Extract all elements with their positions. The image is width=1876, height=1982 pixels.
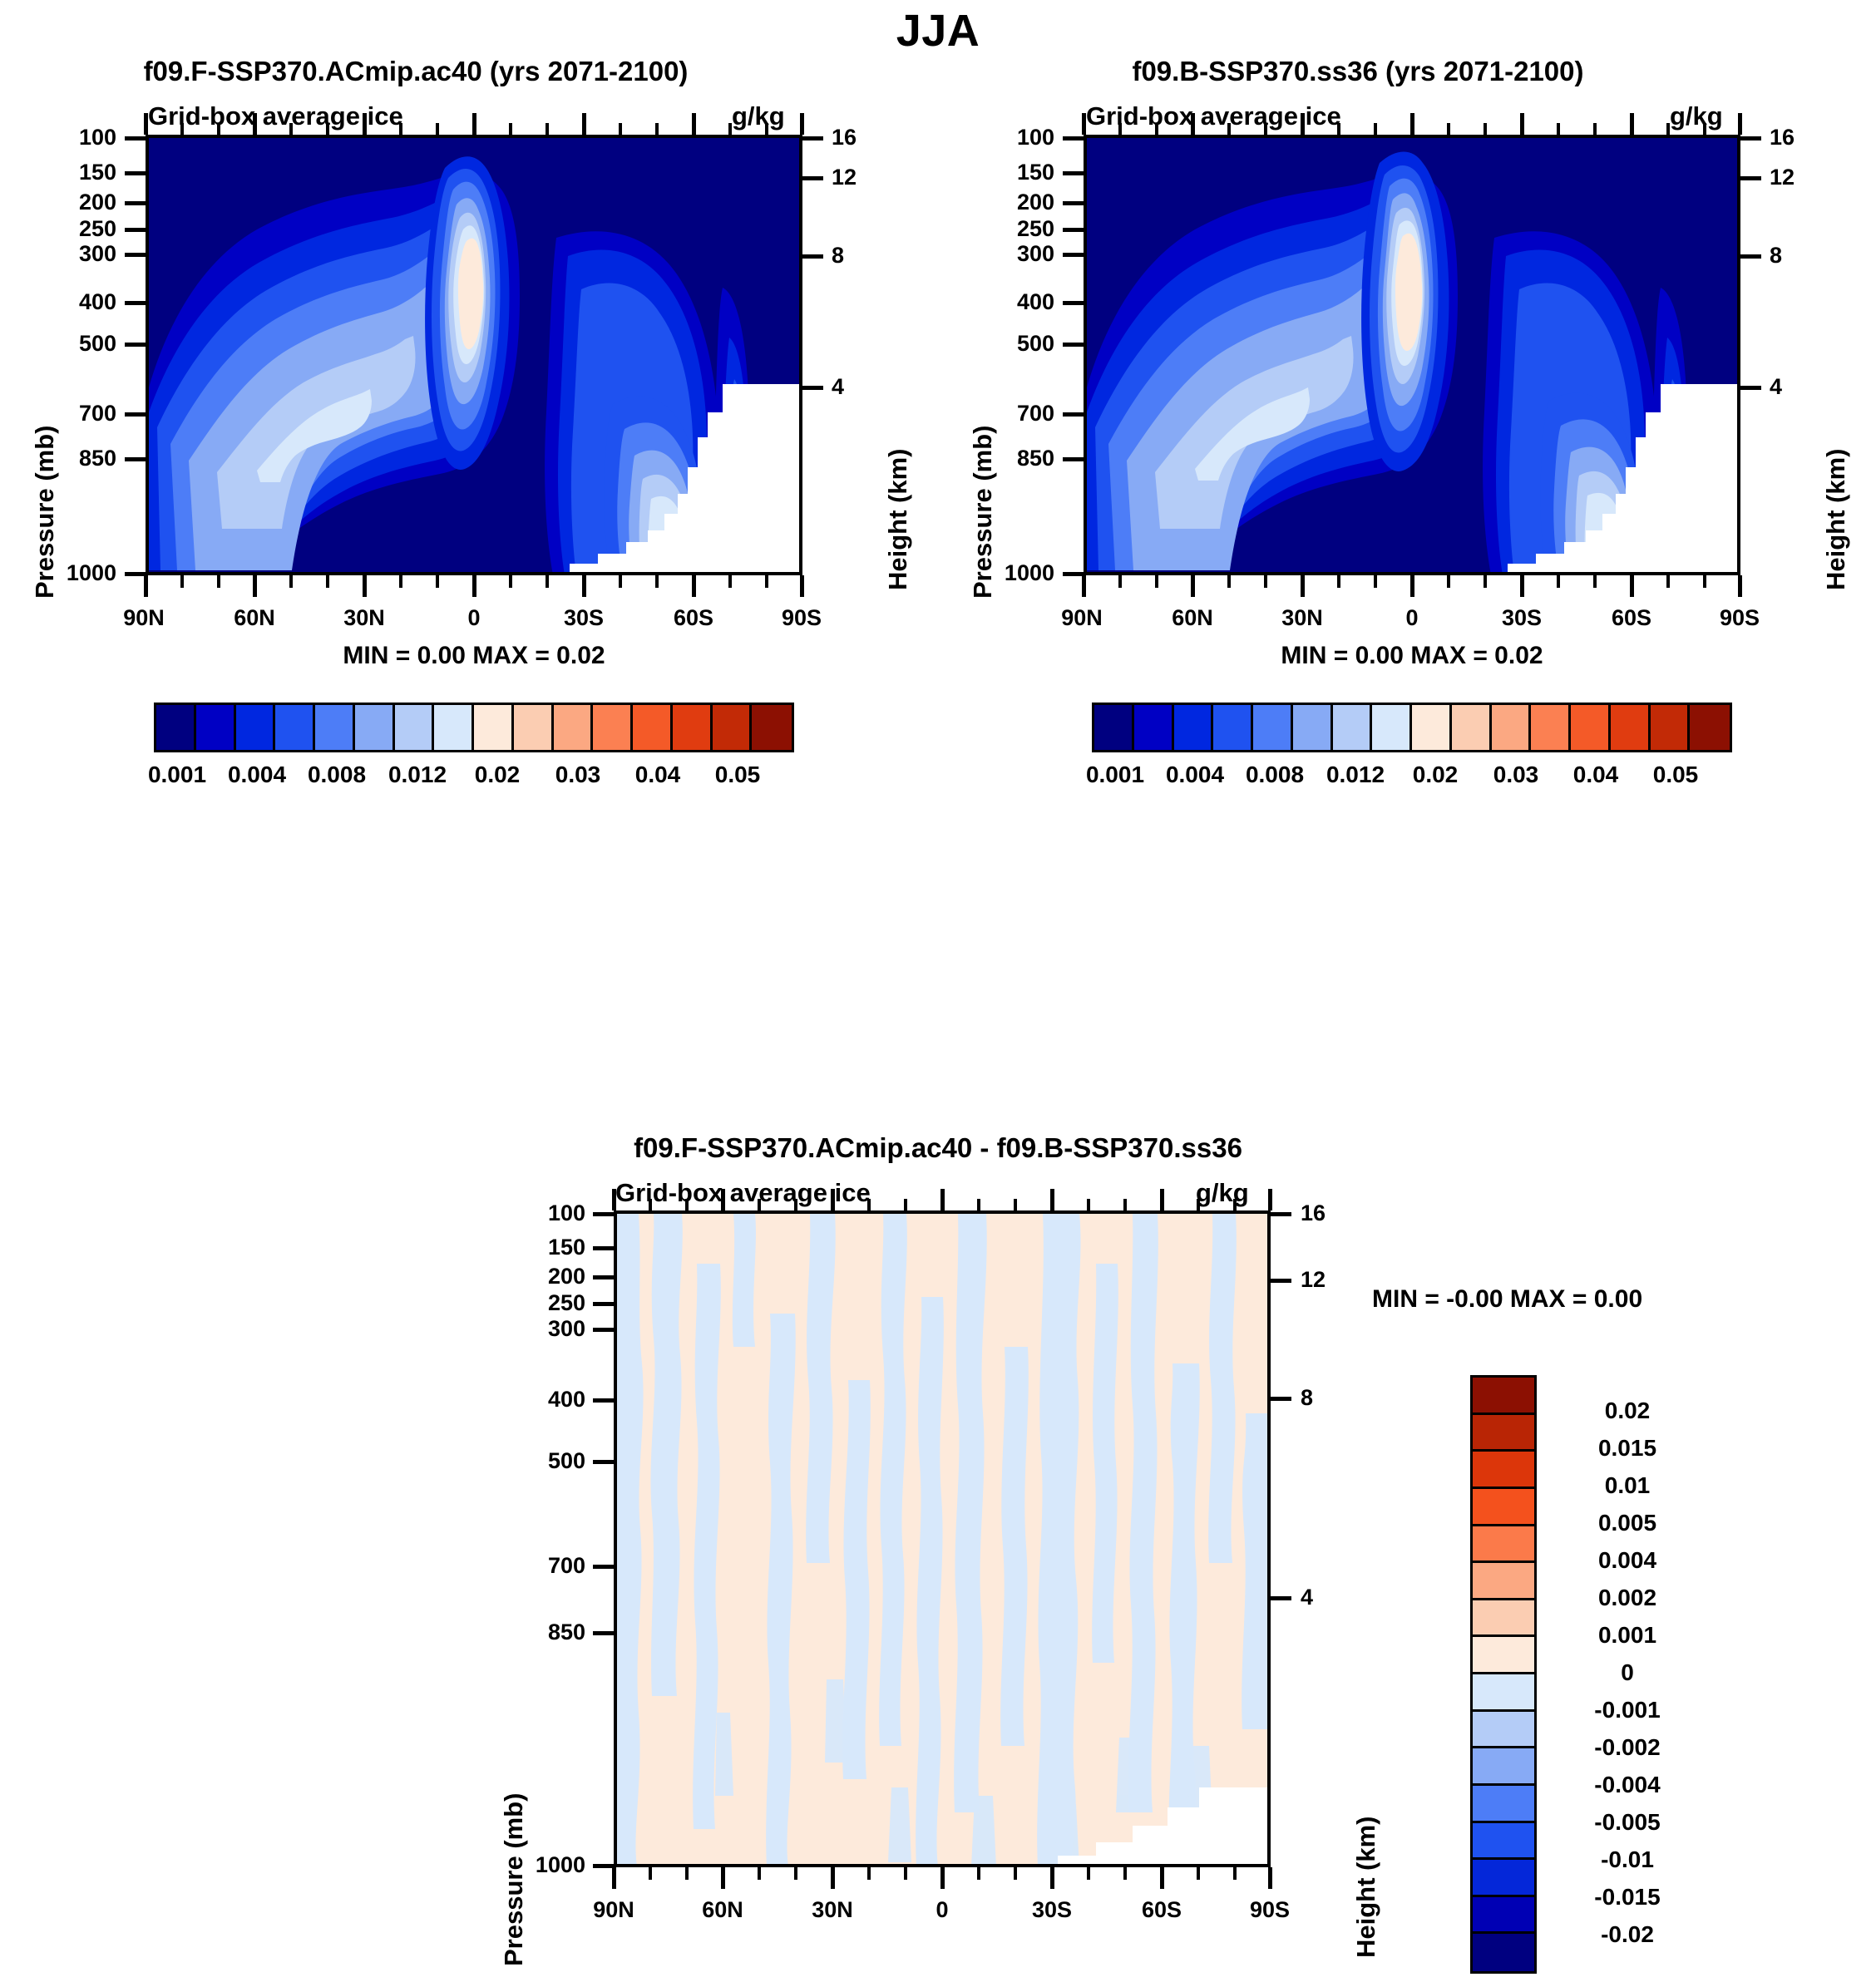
- tick-mark: [125, 228, 146, 232]
- height-tick-label: 16: [832, 125, 857, 150]
- pressure-tick-label: 850: [514, 1620, 585, 1645]
- pressure-tick-label: 150: [50, 160, 116, 185]
- colorbar-swatch: [156, 705, 196, 750]
- panel-a-plot-area: [146, 135, 802, 575]
- height-tick-label: 8: [1301, 1385, 1313, 1411]
- colorbar-swatch: [1473, 1823, 1534, 1861]
- pressure-tick-label: 200: [50, 190, 116, 215]
- pressure-tick-label: 500: [988, 331, 1054, 357]
- colorbar-swatch: [1473, 1786, 1534, 1823]
- colorbar-tick-label: 0.05: [681, 762, 794, 788]
- height-tick-label: 12: [1770, 165, 1795, 190]
- colorbar-tick-label: -0.002: [1548, 1734, 1706, 1761]
- panel-b-y2label: Height (km): [1821, 449, 1851, 591]
- colorbar-swatch: [1473, 1489, 1534, 1526]
- pressure-tick-label: 250: [988, 216, 1054, 242]
- colorbar-swatch: [1452, 705, 1492, 750]
- height-tick-label: 12: [832, 165, 857, 190]
- colorbar-swatch: [593, 705, 633, 750]
- colorbar-swatch: [236, 705, 276, 750]
- lat-tick-label: 0: [892, 1897, 992, 1923]
- colorbar-swatch: [1473, 1897, 1534, 1935]
- height-tick-label: 8: [832, 243, 844, 269]
- pressure-tick-label: 500: [514, 1448, 585, 1474]
- lat-tick-label: 60S: [1582, 605, 1681, 631]
- pressure-tick-label: 500: [50, 331, 116, 357]
- lat-tick-label: 90S: [1690, 605, 1790, 631]
- height-tick-label: 4: [1770, 374, 1782, 400]
- colorbar-swatch: [1372, 705, 1412, 750]
- pressure-tick-label: 400: [514, 1387, 585, 1413]
- colorbar-swatch: [514, 705, 554, 750]
- colorbar-swatch: [1473, 1600, 1534, 1638]
- height-tick-label: 4: [832, 374, 844, 400]
- colorbar-tick-label: -0.01: [1548, 1846, 1706, 1873]
- colorbar-tick-label: 0: [1548, 1659, 1706, 1686]
- colorbar-swatch: [275, 705, 315, 750]
- colorbar-swatch: [1473, 1415, 1534, 1452]
- tick-mark: [125, 253, 146, 257]
- pressure-tick-label: 700: [988, 401, 1054, 426]
- panel-diff-units: g/kg: [1196, 1178, 1249, 1208]
- lat-tick-label: 90S: [1220, 1897, 1320, 1923]
- colorbar-tick-label: 0.01: [1548, 1472, 1706, 1499]
- colorbar-swatch: [1253, 705, 1293, 750]
- colorbar-swatch: [1473, 1526, 1534, 1564]
- tick-mark: [125, 412, 146, 417]
- pressure-tick-label: 700: [514, 1553, 585, 1579]
- colorbar-swatch: [315, 705, 355, 750]
- panel-b-plot-area: [1084, 135, 1740, 575]
- height-tick-label: 12: [1301, 1267, 1326, 1293]
- colorbar-swatch: [1213, 705, 1253, 750]
- pressure-tick-label: 400: [50, 289, 116, 315]
- colorbar-swatch: [1473, 1674, 1534, 1712]
- panel-a-colorbar-labels: 0.001 0.004 0.008 0.012 0.02 0.03 0.04 0…: [154, 762, 794, 795]
- height-tick-label: 4: [1301, 1585, 1313, 1610]
- tick-mark: [472, 575, 476, 597]
- colorbar-swatch: [1531, 705, 1571, 750]
- colorbar-tick-label: -0.02: [1548, 1921, 1706, 1948]
- lat-tick-label: 60N: [1143, 605, 1242, 631]
- lat-tick-label: 60S: [644, 605, 743, 631]
- colorbar-swatch: [1690, 705, 1730, 750]
- tick-mark: [125, 457, 146, 461]
- panel-diff-plot-area: [614, 1210, 1271, 1867]
- tick-mark: [125, 171, 146, 175]
- colorbar-tick-label: 0.002: [1548, 1585, 1706, 1611]
- pressure-tick-label: 850: [988, 446, 1054, 471]
- main-title: JJA: [0, 5, 1876, 57]
- colorbar-swatch: [1492, 705, 1532, 750]
- panel-b-title: f09.B-SSP370.ss36 (yrs 2071-2100): [938, 56, 1778, 87]
- pressure-tick-label: 1000: [38, 560, 116, 586]
- colorbar-swatch: [1473, 1748, 1534, 1786]
- lat-tick-label: 60N: [673, 1897, 773, 1923]
- colorbar-swatch: [395, 705, 435, 750]
- colorbar-swatch: [1333, 705, 1373, 750]
- lat-tick-label: 90N: [564, 1897, 664, 1923]
- tick-mark: [582, 575, 586, 597]
- pressure-tick-label: 200: [514, 1264, 585, 1289]
- colorbar-swatch: [1174, 705, 1214, 750]
- pressure-tick-label: 300: [988, 241, 1054, 267]
- panel-diff-colorbar-labels: 0.02 0.015 0.01 0.005 0.004 0.002 0.001 …: [1548, 1375, 1723, 1974]
- panel-b-units: g/kg: [1670, 101, 1723, 131]
- colorbar-swatch: [196, 705, 236, 750]
- pressure-tick-label: 300: [50, 241, 116, 267]
- colorbar-tick-label: 0.005: [1548, 1510, 1706, 1536]
- pressure-tick-label: 300: [514, 1316, 585, 1342]
- pressure-tick-label: 700: [50, 401, 116, 426]
- lat-tick-label: 90S: [752, 605, 852, 631]
- tick-mark: [253, 575, 257, 597]
- colorbar-swatch: [1412, 705, 1452, 750]
- colorbar-tick-label: 0.02: [1548, 1398, 1706, 1424]
- panel-diff: f09.F-SSP370.ACmip.ac40 - f09.B-SSP370.s…: [0, 1131, 1876, 1982]
- colorbar-swatch: [1611, 705, 1651, 750]
- pressure-tick-label: 250: [514, 1290, 585, 1316]
- pressure-tick-label: 1000: [976, 560, 1054, 586]
- panel-b-colorbar-labels: 0.001 0.004 0.008 0.012 0.02 0.03 0.04 0…: [1092, 762, 1732, 795]
- pressure-tick-label: 200: [988, 190, 1054, 215]
- panel-diff-colorbar: [1470, 1375, 1537, 1974]
- lat-tick-label: 0: [424, 605, 524, 631]
- panel-a: f09.F-SSP370.ACmip.ac40 (yrs 2071-2100) …: [0, 50, 938, 1139]
- tick-mark: [125, 343, 146, 347]
- lat-tick-label: 60N: [205, 605, 304, 631]
- panel-diff-y2label: Height (km): [1351, 1817, 1381, 1959]
- tick-mark: [802, 386, 823, 390]
- panel-b-contour-field: [1087, 138, 1740, 575]
- tick-mark: [800, 575, 804, 597]
- panel-a-y2label: Height (km): [883, 449, 913, 591]
- colorbar-tick-label: 0.001: [1548, 1622, 1706, 1649]
- colorbar-swatch: [1134, 705, 1174, 750]
- tick-mark: [144, 575, 148, 597]
- colorbar-swatch: [1473, 1378, 1534, 1415]
- pressure-tick-label: 150: [514, 1235, 585, 1260]
- lat-tick-label: 90N: [94, 605, 194, 631]
- pressure-tick-label: 150: [988, 160, 1054, 185]
- colorbar-swatch: [1571, 705, 1611, 750]
- colorbar-swatch: [355, 705, 395, 750]
- pressure-tick-label: 400: [988, 289, 1054, 315]
- lat-tick-label: 90N: [1032, 605, 1132, 631]
- panel-a-colorbar: [154, 703, 794, 752]
- lat-tick-label: 30N: [782, 1897, 882, 1923]
- tick-mark: [125, 572, 146, 576]
- colorbar-swatch: [1473, 1563, 1534, 1600]
- colorbar-swatch: [434, 705, 474, 750]
- panel-b: f09.B-SSP370.ss36 (yrs 2071-2100) Grid-b…: [938, 50, 1876, 1139]
- colorbar-swatch: [1473, 1712, 1534, 1749]
- colorbar-swatch: [474, 705, 514, 750]
- colorbar-swatch: [1473, 1452, 1534, 1489]
- colorbar-tick-label: -0.005: [1548, 1809, 1706, 1836]
- panel-diff-ylabel: Pressure (mb): [499, 1793, 529, 1966]
- colorbar-tick-label: -0.001: [1548, 1697, 1706, 1723]
- colorbar-swatch: [673, 705, 713, 750]
- panel-b-colorbar: [1092, 703, 1732, 752]
- tick-mark: [802, 176, 823, 180]
- colorbar-swatch: [554, 705, 594, 750]
- pressure-tick-label: 850: [50, 446, 116, 471]
- lat-tick-label: 30S: [1002, 1897, 1102, 1923]
- pressure-tick-label: 100: [514, 1201, 585, 1226]
- panel-a-title: f09.F-SSP370.ACmip.ac40 (yrs 2071-2100): [0, 56, 832, 87]
- colorbar-tick-label: -0.004: [1548, 1772, 1706, 1798]
- tick-mark: [802, 136, 823, 141]
- colorbar-tick-label: 0.004: [1548, 1547, 1706, 1574]
- tick-mark: [802, 254, 823, 259]
- panel-diff-title: f09.F-SSP370.ACmip.ac40 - f09.B-SSP370.s…: [0, 1132, 1876, 1164]
- tick-mark: [125, 301, 146, 305]
- panel-diff-minmax: MIN = -0.00 MAX = 0.00: [1372, 1285, 1642, 1314]
- panel-a-minmax: MIN = 0.00 MAX = 0.02: [146, 642, 802, 670]
- lat-tick-label: 60S: [1112, 1897, 1212, 1923]
- lat-tick-label: 30N: [1252, 605, 1352, 631]
- height-tick-label: 8: [1770, 243, 1782, 269]
- tick-mark: [692, 575, 696, 597]
- colorbar-tick-label: 0.015: [1548, 1435, 1706, 1462]
- pressure-tick-label: 250: [50, 216, 116, 242]
- pressure-tick-label: 100: [50, 125, 116, 150]
- panel-b-minmax: MIN = 0.00 MAX = 0.02: [1084, 642, 1740, 670]
- colorbar-swatch: [752, 705, 792, 750]
- height-tick-label: 16: [1301, 1201, 1326, 1226]
- colorbar-swatch: [1473, 1934, 1534, 1971]
- colorbar-swatch: [633, 705, 673, 750]
- lat-tick-label: 30N: [314, 605, 414, 631]
- panel-a-contour-field: [149, 138, 802, 575]
- colorbar-swatch: [713, 705, 753, 750]
- colorbar-swatch: [1293, 705, 1333, 750]
- colorbar-tick-label: 0.05: [1619, 762, 1732, 788]
- colorbar-swatch: [1651, 705, 1691, 750]
- tick-mark: [125, 201, 146, 205]
- pressure-tick-label: 1000: [501, 1852, 585, 1878]
- pressure-tick-label: 100: [988, 125, 1054, 150]
- colorbar-tick-label: -0.015: [1548, 1884, 1706, 1911]
- lat-tick-label: 0: [1362, 605, 1462, 631]
- colorbar-swatch: [1094, 705, 1134, 750]
- panel-diff-contour-field: [617, 1214, 1271, 1867]
- lat-tick-label: 30S: [534, 605, 634, 631]
- colorbar-swatch: [1473, 1860, 1534, 1897]
- lat-tick-label: 30S: [1472, 605, 1572, 631]
- tick-mark: [125, 136, 146, 141]
- colorbar-swatch: [1473, 1637, 1534, 1674]
- height-tick-label: 16: [1770, 125, 1795, 150]
- tick-mark: [363, 575, 367, 597]
- panel-a-units: g/kg: [732, 101, 785, 131]
